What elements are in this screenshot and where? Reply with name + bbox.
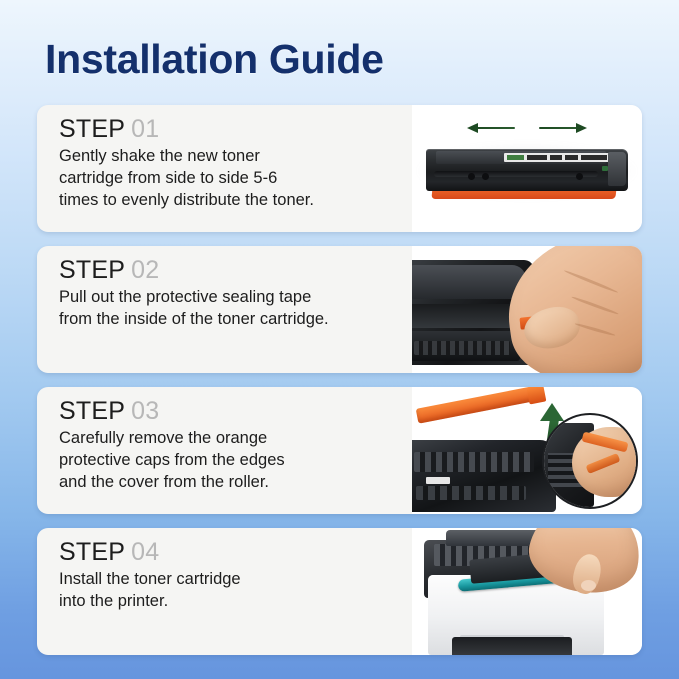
arrow-right-line xyxy=(539,127,581,129)
drum-white-marker xyxy=(426,477,450,484)
orange-cap-end xyxy=(527,387,547,404)
hand-pulling-tape-icon xyxy=(412,246,642,373)
step-03-label: STEP xyxy=(59,397,125,425)
drum-slats-lower xyxy=(416,486,526,500)
step-04-description: Install the toner cartridge into the pri… xyxy=(59,569,412,613)
step-02-number: 02 xyxy=(131,256,159,284)
toner-cartridge-shake-icon xyxy=(412,105,642,232)
label-mark-3 xyxy=(550,155,562,160)
shake-arrows-icon xyxy=(467,121,587,135)
step-card-03-text: STEP03 Carefully remove the orange prote… xyxy=(37,387,412,514)
step-card-03: STEP03 Carefully remove the orange prote… xyxy=(37,387,642,514)
cartridge-body xyxy=(426,149,628,191)
step-02-label: STEP xyxy=(59,256,125,284)
installation-guide-page: Installation Guide STEP01 Gently shake t… xyxy=(0,0,679,679)
cartridge-graphic xyxy=(426,149,628,199)
arrow-head xyxy=(540,403,564,421)
fingernail xyxy=(581,580,596,591)
cartridge-groove xyxy=(434,171,598,177)
label-mark-5 xyxy=(581,155,607,160)
label-mark-1 xyxy=(507,155,524,160)
step-01-number: 01 xyxy=(131,115,159,143)
label-mark-4 xyxy=(565,155,578,160)
step-04-heading: STEP04 xyxy=(59,539,412,566)
step-01-description: Gently shake the new toner cartridge fro… xyxy=(59,146,412,211)
step-card-02-text: STEP02 Pull out the protective sealing t… xyxy=(37,246,412,373)
steps-list: STEP01 Gently shake the new toner cartri… xyxy=(37,105,642,669)
step-02-heading: STEP02 xyxy=(59,257,412,284)
step-03-figure xyxy=(412,387,642,514)
cartridge-label xyxy=(504,153,612,162)
step-03-description: Carefully remove the orange protective c… xyxy=(59,428,412,493)
step-card-01-text: STEP01 Gently shake the new toner cartri… xyxy=(37,105,412,232)
orange-protective-cap xyxy=(416,387,541,424)
arrow-right-icon xyxy=(576,123,587,133)
step-01-figure xyxy=(412,105,642,232)
page-title: Installation Guide xyxy=(45,36,384,83)
closeup-inset-circle xyxy=(542,413,638,509)
cartridge-ridges xyxy=(414,341,510,355)
step-04-figure xyxy=(412,528,642,655)
cartridge-upper-shell xyxy=(412,265,526,299)
cartridge-knob-mid xyxy=(482,173,489,180)
step-card-04: STEP04 Install the toner cartridge into … xyxy=(37,528,642,655)
label-mark-2 xyxy=(527,155,547,160)
step-card-02: STEP02 Pull out the protective sealing t… xyxy=(37,246,642,373)
step-02-description: Pull out the protective sealing tape fro… xyxy=(59,287,412,331)
printer-installation-icon xyxy=(412,528,642,655)
step-01-heading: STEP01 xyxy=(59,116,412,143)
step-02-figure xyxy=(412,246,642,373)
step-card-01: STEP01 Gently shake the new toner cartri… xyxy=(37,105,642,232)
step-card-04-text: STEP04 Install the toner cartridge into … xyxy=(37,528,412,655)
step-01-label: STEP xyxy=(59,115,125,143)
step-03-heading: STEP03 xyxy=(59,398,412,425)
drum-unit-body xyxy=(412,440,556,512)
step-03-number: 03 xyxy=(131,397,159,425)
cartridge-end-cap xyxy=(608,152,626,186)
step-04-number: 04 xyxy=(131,538,159,566)
printer-paper-tray xyxy=(452,637,572,655)
cartridge-knob-right xyxy=(576,173,583,180)
orange-cap-removal-icon xyxy=(412,387,642,514)
step-04-label: STEP xyxy=(59,538,125,566)
arrow-left-line xyxy=(473,127,515,129)
cartridge-knob-left xyxy=(468,173,475,180)
drum-slats-upper xyxy=(414,452,534,472)
